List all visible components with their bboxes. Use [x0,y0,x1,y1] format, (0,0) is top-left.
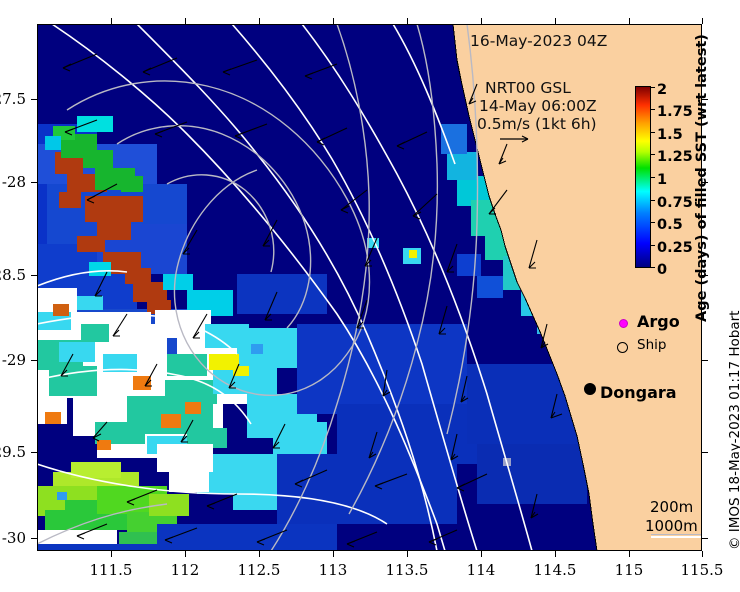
x-tick-label: 113 [298,561,368,579]
product-line-3: 0.5m/s (1kt 6h) [477,115,597,133]
colorbar-tick-label: 0 [657,262,667,278]
x-tick-label: 112 [150,561,220,579]
product-line-2: 14-May 06:00Z [479,97,597,115]
colorbar-tick-label: 2 [657,82,667,98]
argo-legend-label: Argo [637,312,680,331]
product-line-1: NRT00 GSL [485,79,571,97]
ship-legend-label: Ship [637,337,666,353]
depth-1000m-line-sample [651,536,701,538]
x-tick-label: 113.5 [372,561,442,579]
x-tick-label: 112.5 [224,561,294,579]
figure-root: 16-May-2023 04Z NRT00 GSL 14-May 06:00Z … [0,0,740,592]
colorbar-title-text: Age (days) of filled SST (wrt latest) [694,34,710,322]
colorbar-gradient [635,86,651,268]
dongara-marker [584,383,596,395]
x-tick-label: 111.5 [76,561,146,579]
copyright-text: © IMOS 18-May-2023 01:17 Hobart [727,311,740,550]
y-tick-label: -29 [0,351,26,369]
x-tick-label: 114 [446,561,516,579]
velocity-scale-arrow-icon [500,133,534,145]
y-tick-label: -27.5 [0,90,26,108]
ship-legend-marker [617,342,628,353]
colorbar-tick-label: 1 [657,172,667,188]
x-tick-label: 115 [594,561,664,579]
depth-200m-line-sample [651,534,701,535]
depth-200m-label: 200m [650,498,693,516]
argo-legend-marker [619,319,628,328]
timestamp-annotation: 16-May-2023 04Z [470,32,607,50]
copyright-credit: © IMOS 18-May-2023 01:17 Hobart [713,300,733,580]
colorbar-title: Age (days) of filled SST (wrt latest) [676,22,698,322]
y-tick-label: -28.5 [0,266,26,284]
y-tick-label: -29.5 [0,443,26,461]
y-tick-label: -28 [0,173,26,191]
y-tick-label: -30 [0,529,26,547]
map-canvas [37,24,702,551]
dongara-place-label: Dongara [600,383,677,402]
x-tick-label: 114.5 [520,561,590,579]
map-plot-area [37,24,702,551]
depth-1000m-label: 1000m [645,517,698,535]
